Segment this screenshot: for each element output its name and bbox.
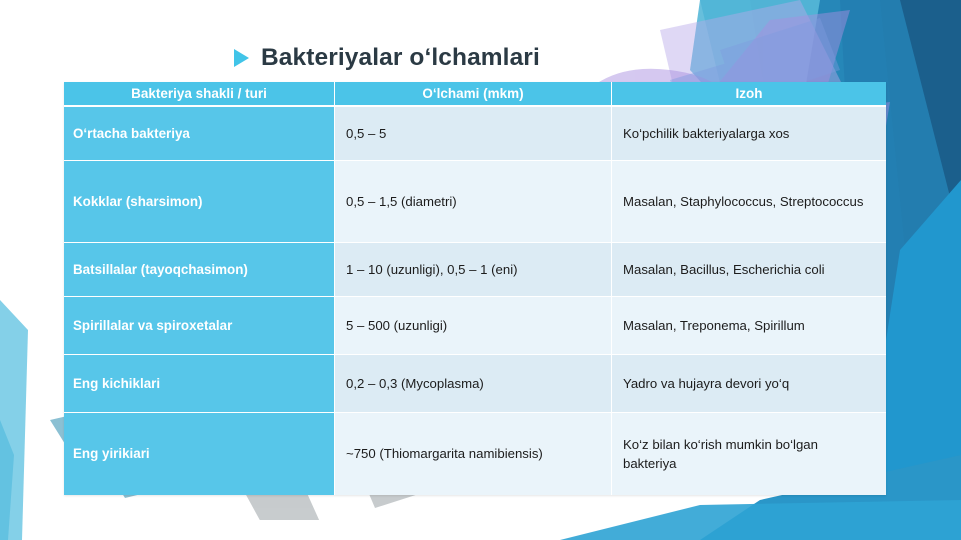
cell-size: 5 – 500 (uzunligi) xyxy=(335,297,612,355)
deco-poly-bottom-wedge2 xyxy=(560,500,961,540)
table-row: Eng yirikiari ~750 (Thiomargarita namibi… xyxy=(64,413,886,495)
cell-size: 1 – 10 (uzunligi), 0,5 – 1 (eni) xyxy=(335,243,612,297)
table-row: Batsillalar (tayoqchasimon) 1 – 10 (uzun… xyxy=(64,243,886,297)
cell-type: O‘rtacha bakteriya xyxy=(64,107,335,161)
cell-note: Masalan, Staphylococcus, Streptococcus xyxy=(612,161,886,243)
cell-type: Spirillalar va spiroxetalar xyxy=(64,297,335,355)
cell-note: Ko‘pchilik bakteriyalarga xos xyxy=(612,107,886,161)
cell-note: Masalan, Treponema, Spirillum xyxy=(612,297,886,355)
table-header: Bakteriya shakli / turi O‘lchami (mkm) I… xyxy=(64,82,886,107)
cell-type: Batsillalar (tayoqchasimon) xyxy=(64,243,335,297)
column-header-size: O‘lchami (mkm) xyxy=(335,82,612,107)
bakteriya-sizes-table: Bakteriya shakli / turi O‘lchami (mkm) I… xyxy=(64,82,886,495)
cell-size: 0,5 – 5 xyxy=(335,107,612,161)
column-header-note: Izoh xyxy=(612,82,886,107)
table-row: Spirillalar va spiroxetalar 5 – 500 (uzu… xyxy=(64,297,886,355)
page-title: Bakteriyalar o‘lchamlari xyxy=(261,44,540,72)
slide-canvas: Bakteriyalar o‘lchamlari Bakteriya shakl… xyxy=(0,0,961,540)
cell-size: ~750 (Thiomargarita namibiensis) xyxy=(335,413,612,495)
cell-note: Ko‘z bilan ko‘rish mumkin bo‘lgan bakter… xyxy=(612,413,886,495)
cell-note: Yadro va hujayra devori yo‘q xyxy=(612,355,886,413)
cell-type: Kokklar (sharsimon) xyxy=(64,161,335,243)
table-row: Eng kichiklari 0,2 – 0,3 (Mycoplasma) Ya… xyxy=(64,355,886,413)
cell-note: Masalan, Bacillus, Escherichia coli xyxy=(612,243,886,297)
table-header-row: Bakteriya shakli / turi O‘lchami (mkm) I… xyxy=(64,82,886,107)
triangle-right-icon xyxy=(234,49,249,67)
cell-type: Eng yirikiari xyxy=(64,413,335,495)
column-header-type: Bakteriya shakli / turi xyxy=(64,82,335,107)
cell-size: 0,5 – 1,5 (diametri) xyxy=(335,161,612,243)
deco-poly-left-sliver xyxy=(0,300,28,540)
deco-poly-left-sliver2 xyxy=(0,420,14,540)
cell-size: 0,2 – 0,3 (Mycoplasma) xyxy=(335,355,612,413)
table-row: O‘rtacha bakteriya 0,5 – 5 Ko‘pchilik ba… xyxy=(64,107,886,161)
cell-type: Eng kichiklari xyxy=(64,355,335,413)
deco-poly-right-navy xyxy=(880,0,961,330)
table-row: Kokklar (sharsimon) 0,5 – 1,5 (diametri)… xyxy=(64,161,886,243)
table-body: O‘rtacha bakteriya 0,5 – 5 Ko‘pchilik ba… xyxy=(64,107,886,495)
title-row: Bakteriyalar o‘lchamlari xyxy=(234,44,540,72)
